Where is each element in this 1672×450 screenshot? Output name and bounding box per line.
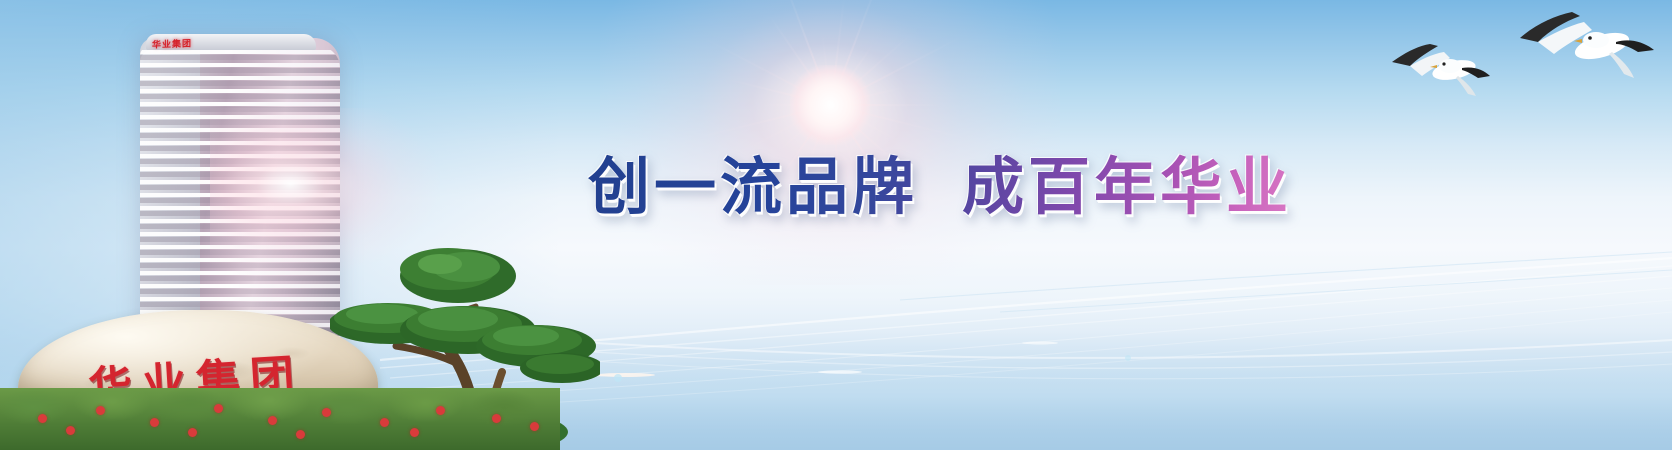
tower-window-band xyxy=(140,263,340,268)
tower-roof-sign: 华业集团 xyxy=(152,36,192,50)
slogan-phrase-2: 成百年华业 xyxy=(962,150,1292,223)
tower-window-band xyxy=(140,224,340,229)
tower-floor-band xyxy=(140,180,340,184)
slogan-text: 创一流品牌成百年华业 xyxy=(588,136,1292,226)
tower-window-band xyxy=(140,55,340,60)
tower-window-band xyxy=(140,250,340,255)
hedge-flower xyxy=(150,418,159,427)
hedge-flower xyxy=(436,406,445,415)
tower-floor-band xyxy=(140,284,340,288)
tower-window-band xyxy=(140,289,340,294)
tower-floor-band xyxy=(140,271,340,275)
tower-window-band xyxy=(140,172,340,177)
tower-window-band xyxy=(140,146,340,151)
hedge-row xyxy=(0,388,560,450)
seagull-icon xyxy=(1392,44,1490,96)
hedge-flower xyxy=(38,414,47,423)
tower-floor-band xyxy=(140,206,340,210)
tower-window-band xyxy=(140,198,340,203)
tower-floor-band xyxy=(140,89,340,93)
tower-floor-band xyxy=(140,232,340,236)
tower-floor-band xyxy=(140,102,340,106)
tower-window-band xyxy=(140,159,340,164)
tower-floor-band xyxy=(140,63,340,67)
tower-floor-band xyxy=(140,115,340,119)
tower-window-band xyxy=(140,120,340,125)
hedge-flower xyxy=(214,404,223,413)
tower-window-band xyxy=(140,185,340,190)
tower-floor-band xyxy=(140,219,340,223)
tower-window-band xyxy=(140,133,340,138)
hedge-flower xyxy=(96,406,105,415)
hedge-flower xyxy=(530,422,539,431)
hedge-flower xyxy=(322,408,331,417)
tower-floor-band xyxy=(140,128,340,132)
slogan-phrase-1: 创一流品牌 xyxy=(588,150,918,223)
tower-floor-band xyxy=(140,258,340,262)
hedge-flower xyxy=(410,428,419,437)
tower-floor-band xyxy=(140,141,340,145)
tower-floor-band xyxy=(140,76,340,80)
tower-floor-band xyxy=(140,193,340,197)
seagull-icon xyxy=(1520,12,1654,78)
hedge-flower xyxy=(380,418,389,427)
tower-floor-band xyxy=(140,154,340,158)
tower-floor-band xyxy=(140,50,340,54)
hero-banner: 华业集团 xyxy=(0,0,1672,450)
hedge-flower xyxy=(188,428,197,437)
hedge-flower xyxy=(268,416,277,425)
tower-floor-band xyxy=(140,167,340,171)
hedge-flower xyxy=(296,430,305,439)
seagulls-group xyxy=(1372,0,1672,140)
tower-window-band xyxy=(140,211,340,216)
tower-window-band xyxy=(140,237,340,242)
tower-floor-band xyxy=(140,245,340,249)
hedge-flower xyxy=(492,414,501,423)
tower-window-band xyxy=(140,276,340,281)
tower-window-band xyxy=(140,68,340,73)
hedge-flower xyxy=(66,426,75,435)
tower-window-band xyxy=(140,94,340,99)
tower-window-band xyxy=(140,81,340,86)
tower-window-band xyxy=(140,107,340,112)
